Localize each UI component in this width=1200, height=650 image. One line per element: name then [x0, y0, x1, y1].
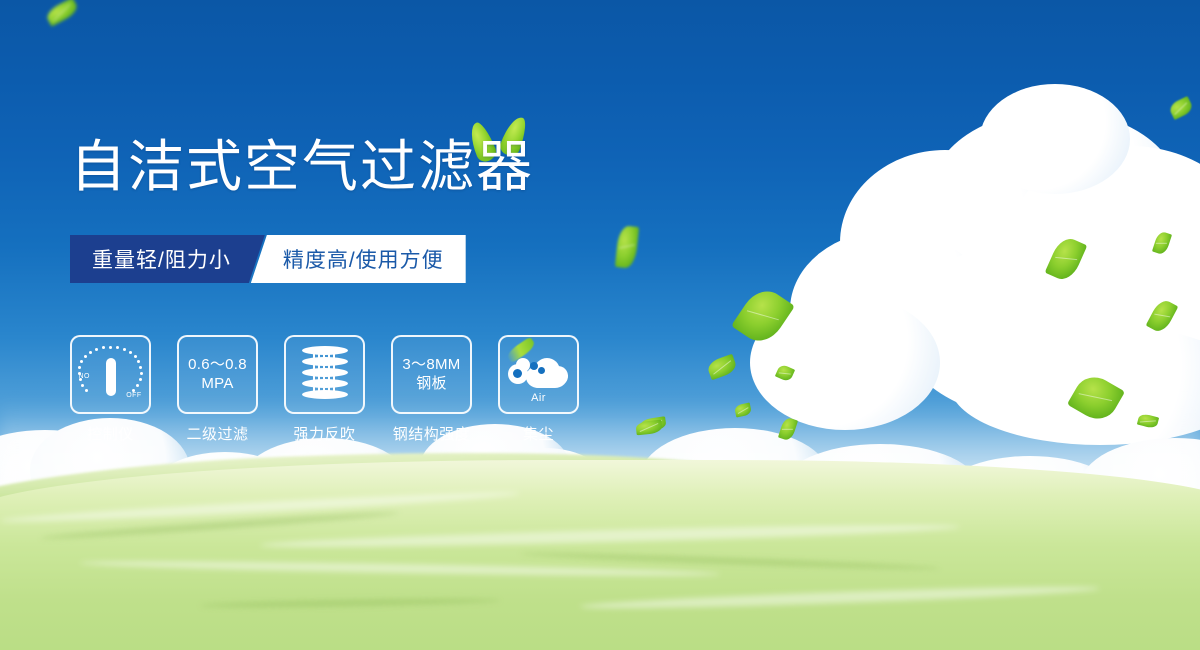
steel-line-1: 3〜8MM	[402, 356, 460, 374]
feature-label: 集尘	[523, 423, 554, 444]
steel-line-2: 钢板	[402, 375, 460, 393]
hero-banner: 自洁式空气过滤器 重量轻/阻力小 精度高/使用方便	[0, 0, 1200, 650]
filter-cartridge-icon	[302, 346, 348, 404]
feature-item-steel-strength[interactable]: 3〜8MM 钢板 钢结构强度	[391, 335, 472, 444]
feature-icon-box: NO OFF	[70, 335, 151, 414]
pressure-line-2: MPA	[188, 375, 247, 393]
cumulus-cloud-right	[780, 110, 1200, 440]
dial-needle	[106, 358, 116, 396]
feature-icon-box: Air	[498, 335, 579, 414]
dial-label-on: NO	[79, 373, 90, 380]
feature-icon-box: 0.6〜0.8 MPA	[177, 335, 258, 414]
floating-leaf-icon	[44, 0, 80, 27]
floating-leaf-icon	[615, 225, 639, 269]
grass-near-field	[0, 460, 1200, 650]
feature-item-backblow[interactable]: 强力反吹	[284, 335, 365, 444]
control-dial-icon: NO OFF	[79, 344, 143, 406]
pressure-line-1: 0.6〜0.8	[188, 356, 247, 374]
feature-list: NO OFF 控制仪 0.6〜0.8 MPA 二级过滤	[70, 335, 579, 444]
subtitle-ribbon: 重量轻/阻力小 精度高/使用方便	[70, 235, 466, 283]
steel-plate-text-icon: 3〜8MM 钢板	[402, 356, 460, 393]
feature-item-dust-collection[interactable]: Air 集尘	[498, 335, 579, 444]
feature-label: 控制仪	[87, 423, 134, 444]
feature-icon-box	[284, 335, 365, 414]
feature-label: 强力反吹	[293, 423, 355, 444]
feature-item-control-dial[interactable]: NO OFF 控制仪	[70, 335, 151, 444]
ribbon-segment-left: 重量轻/阻力小	[70, 235, 265, 283]
floating-leaf-icon	[706, 354, 738, 380]
air-label: Air	[508, 392, 570, 404]
feature-label: 二级过滤	[186, 423, 248, 444]
air-cloud-icon: Air	[508, 348, 570, 402]
page-title: 自洁式空气过滤器	[70, 140, 534, 196]
feature-label: 钢结构强度	[393, 423, 471, 444]
feature-item-secondary-filter[interactable]: 0.6〜0.8 MPA 二级过滤	[177, 335, 258, 444]
ribbon-segment-right: 精度高/使用方便	[251, 235, 466, 283]
pressure-text-icon: 0.6〜0.8 MPA	[188, 356, 247, 393]
feature-icon-box: 3〜8MM 钢板	[391, 335, 472, 414]
dial-label-off: OFF	[126, 392, 141, 399]
